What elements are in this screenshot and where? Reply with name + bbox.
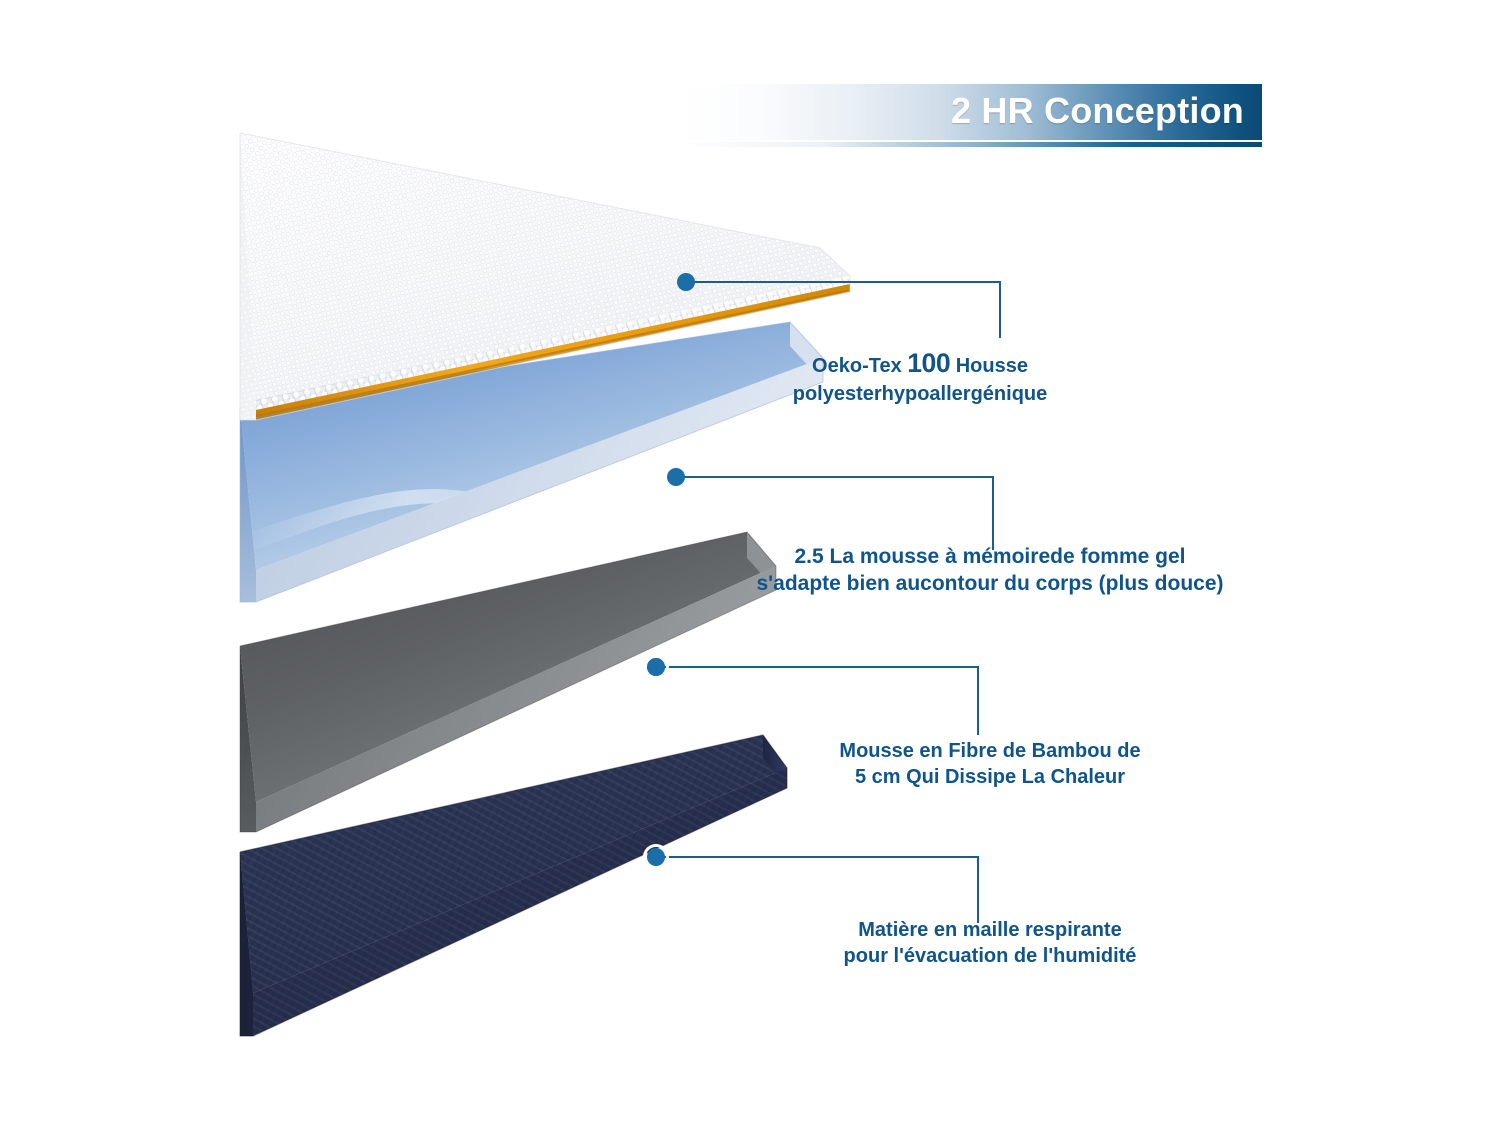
label-cover-line1-pre: Oeko-Tex bbox=[812, 355, 907, 377]
label-gel-line2: s'adapte bien aucontour du corps (plus d… bbox=[640, 570, 1340, 597]
label-gel-line1: 2.5 La mousse à mémoirede fomme gel bbox=[640, 543, 1340, 570]
label-bamboo-line2: 5 cm Qui Dissipe La Chaleur bbox=[740, 764, 1240, 790]
label-gel-memory-foam: 2.5 La mousse à mémoirede fomme gel s'ad… bbox=[640, 543, 1340, 598]
label-cover-line2: polyesterhypoallergénique bbox=[700, 381, 1140, 407]
label-cover-line1-post: Housse bbox=[950, 355, 1028, 377]
label-bamboo-fiber-foam: Mousse en Fibre de Bambou de 5 cm Qui Di… bbox=[740, 738, 1240, 790]
label-mesh-line2: pour l'évacuation de l'humidité bbox=[740, 943, 1240, 969]
page-title: 2 HR Conception bbox=[951, 90, 1244, 132]
label-mesh-line1: Matière en maille respirante bbox=[740, 917, 1240, 943]
label-breathable-mesh-base: Matière en maille respirante pour l'évac… bbox=[740, 917, 1240, 969]
infographic-canvas: 2 HR Conception Oeko-Tex 100 Housse poly… bbox=[0, 0, 1500, 1125]
banner-underline bbox=[676, 142, 1262, 147]
label-cover: Oeko-Tex 100 Housse polyesterhypoallergé… bbox=[700, 346, 1140, 407]
label-bamboo-line1: Mousse en Fibre de Bambou de bbox=[740, 738, 1240, 764]
banner-gradient-bar: 2 HR Conception bbox=[676, 84, 1262, 140]
label-cover-line1-number: 100 bbox=[907, 348, 950, 378]
title-banner: 2 HR Conception bbox=[676, 84, 1262, 146]
callout-line-cover bbox=[660, 258, 1030, 348]
